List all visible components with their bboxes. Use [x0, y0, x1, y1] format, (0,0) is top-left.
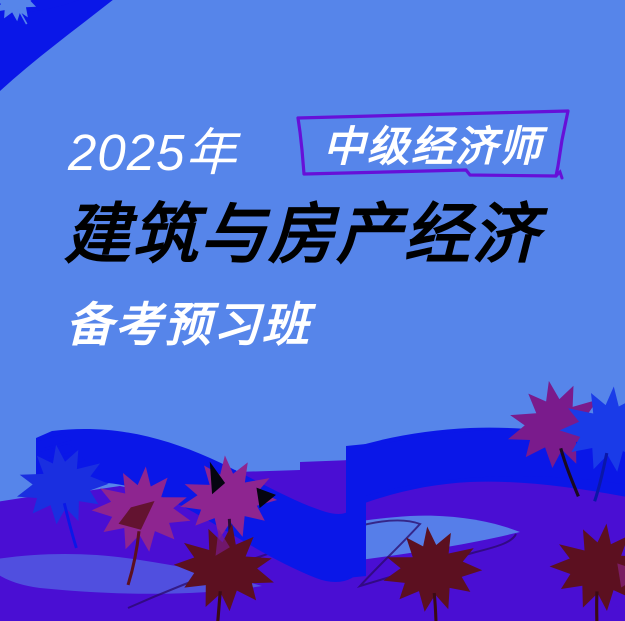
- headline-group: 2025年 中级经济师 建筑与房产经济 备考预习班: [0, 0, 625, 400]
- year-label: 2025年: [68, 124, 237, 182]
- exam-badge: 中级经济师: [290, 106, 576, 182]
- leaf-icon-3: [177, 452, 282, 575]
- leaf-icon-5: [378, 521, 490, 621]
- leaf-icon-2: [84, 461, 195, 590]
- blue-brush-stroke: [36, 428, 625, 582]
- leaf-icon-4: [161, 515, 283, 621]
- page-subtitle: 备考预习班: [66, 297, 311, 353]
- poster-canvas: 2025年 中级经济师 建筑与房产经济 备考预习班: [0, 0, 625, 621]
- purple-brush-stroke: [0, 423, 625, 621]
- leaf-icon-6: [539, 517, 625, 621]
- page-title: 建筑与房产经济: [64, 196, 540, 272]
- badge-label: 中级经济师: [290, 106, 576, 182]
- leaf-icon-8: [553, 381, 625, 507]
- leaf-icon-1: [11, 438, 117, 555]
